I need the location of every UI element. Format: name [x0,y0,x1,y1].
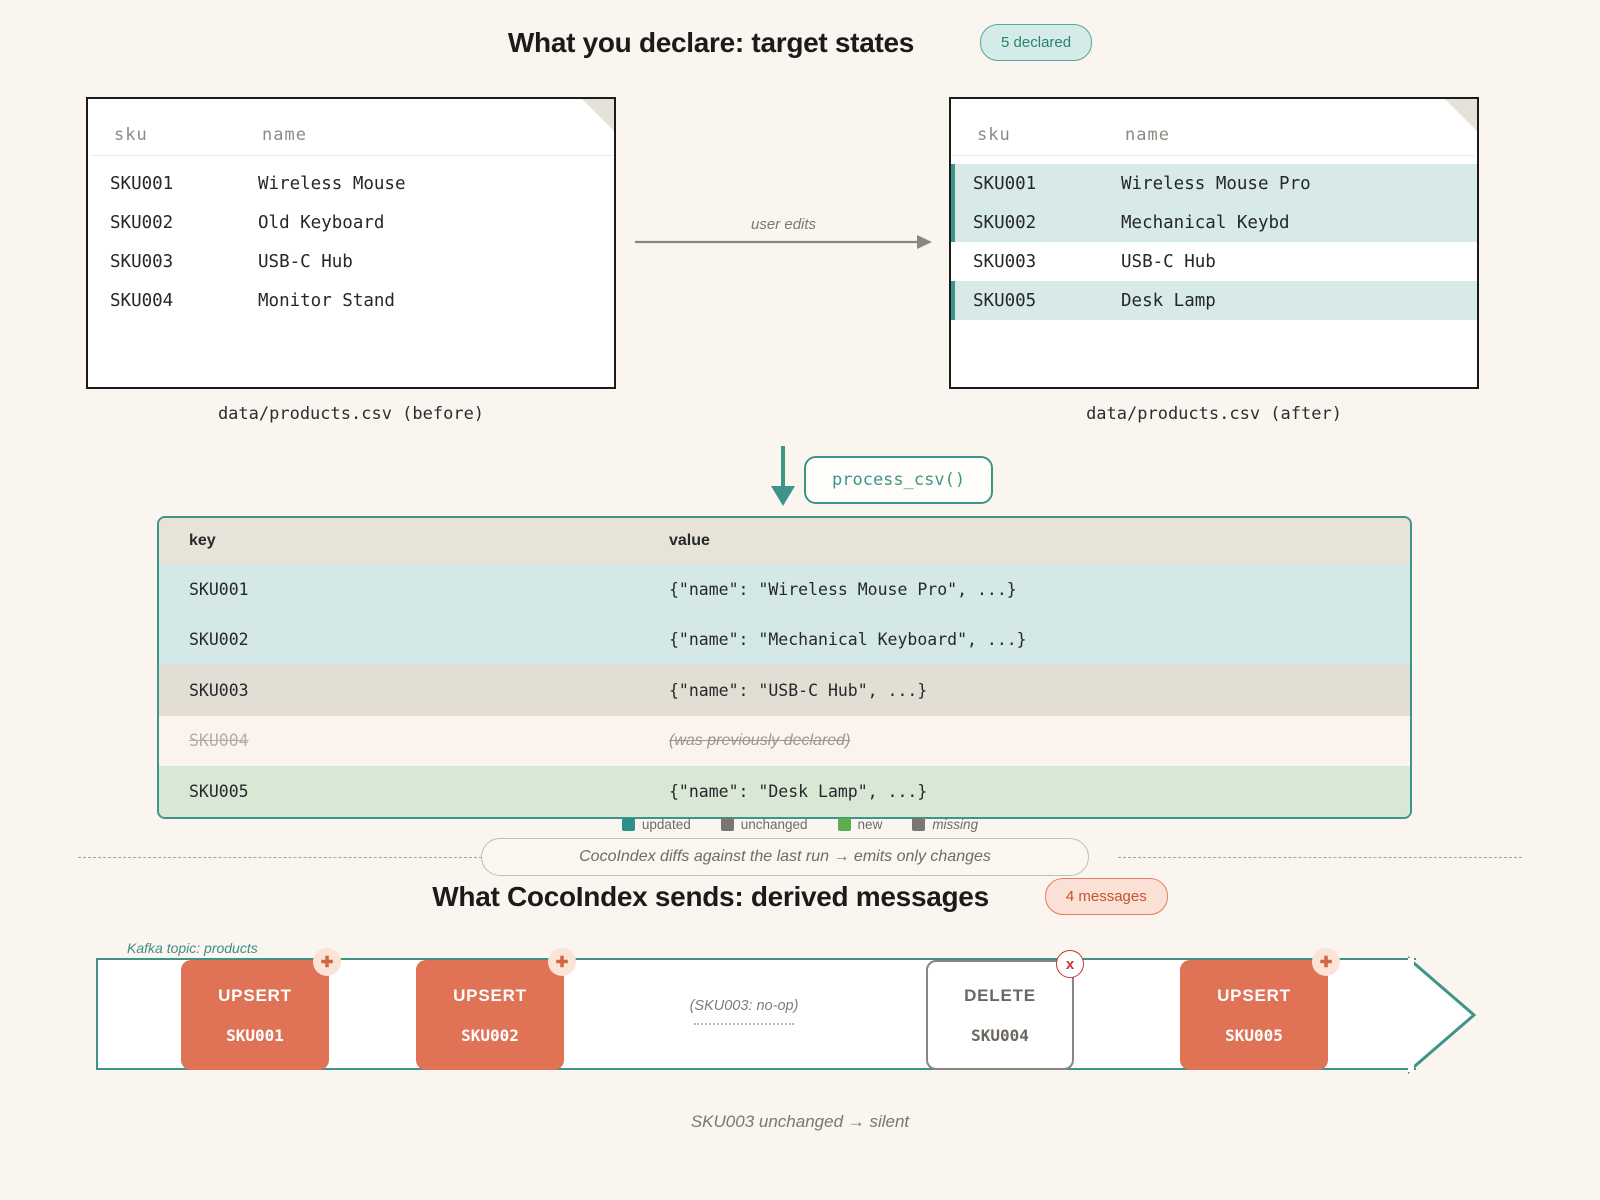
plus-icon: ✚ [313,948,341,976]
legend-label: unchanged [741,817,808,832]
page-title: What you declare: target states [508,27,914,59]
noop-dotted-line [694,1023,794,1025]
table-row: SKU003 USB-C Hub [88,242,614,281]
diff-note: CocoIndex diffs against the last run → e… [481,838,1089,876]
legend: updated unchanged new missing [0,817,1600,832]
legend-label: missing [932,817,978,832]
message-sku: SKU005 [1225,1026,1283,1045]
caption-before: data/products.csv (before) [86,404,616,424]
swatch-icon [721,818,734,831]
cell-value: {"name": "Desk Lamp", ...} [669,782,927,801]
column-header-name: name [1125,125,1170,145]
cell-name: Mechanical Keybd [1121,213,1290,233]
noop-label: (SKU003: no-op) [644,998,844,1014]
divider-line-right [1118,857,1522,858]
column-header-name: name [262,125,307,145]
csv-header-row-before: sku name [90,99,612,156]
legend-item-unchanged: unchanged [721,817,808,832]
page-fold-icon [582,99,614,131]
cell-name: Monitor Stand [258,291,395,311]
declare-section-header: What you declare: target states 5 declar… [0,24,1600,61]
noop-marker: (SKU003: no-op) [644,998,844,1025]
cell-name: Wireless Mouse Pro [1121,174,1311,194]
table-row: SKU002 Mechanical Keybd [951,203,1477,242]
kv-table-header: key value [159,518,1410,564]
swatch-icon [912,818,925,831]
column-header-key: key [189,532,669,550]
csv-rows-after: SKU001 Wireless Mouse Pro SKU002 Mechani… [951,156,1477,320]
kafka-topic-label: Kafka topic: products [127,940,258,956]
messages-count-badge: 4 messages [1045,878,1168,915]
message-op: UPSERT [1217,986,1291,1006]
process-csv-node[interactable]: process_csv() [804,456,993,504]
cell-name: Old Keyboard [258,213,384,233]
user-edits-arrow-icon [635,232,935,252]
csv-card-after: sku name SKU001 Wireless Mouse Pro SKU00… [949,97,1479,389]
cell-sku: SKU002 [973,213,1121,233]
plus-icon: ✚ [548,948,576,976]
process-arrow-icon [766,446,802,508]
footnote: SKU003 unchanged → silent [0,1112,1600,1132]
cell-key: SKU003 [189,681,669,700]
table-row: SKU004 (was previously declared) [159,716,1410,767]
legend-label: new [858,817,883,832]
message-card-upsert-sku002[interactable]: ✚ UPSERT SKU002 [416,960,564,1070]
sends-section-header: What CocoIndex sends: derived messages 4… [0,878,1600,915]
table-row: SKU001 {"name": "Wireless Mouse Pro", ..… [159,564,1410,615]
legend-label: updated [642,817,691,832]
stream-arrowhead-icon [1408,930,1478,1100]
column-header-value: value [669,532,710,550]
table-row: SKU003 {"name": "USB-C Hub", ...} [159,665,1410,716]
table-row: SKU005 Desk Lamp [951,281,1477,320]
caption-after: data/products.csv (after) [949,404,1479,424]
table-row: SKU002 {"name": "Mechanical Keyboard", .… [159,615,1410,666]
cell-name: Desk Lamp [1121,291,1216,311]
cell-name: USB-C Hub [1121,252,1216,272]
user-edits-label: user edits [751,216,816,233]
message-sku: SKU002 [461,1026,519,1045]
plus-icon: ✚ [1312,948,1340,976]
cell-value: (was previously declared) [669,732,850,750]
table-row: SKU002 Old Keyboard [88,203,614,242]
legend-item-updated: updated [622,817,691,832]
csv-card-before: sku name SKU001 Wireless Mouse SKU002 Ol… [86,97,616,389]
csv-rows-before: SKU001 Wireless Mouse SKU002 Old Keyboar… [88,156,614,320]
cell-key: SKU001 [189,580,669,599]
table-row: SKU003 USB-C Hub [951,242,1477,281]
declared-count-badge: 5 declared [980,24,1092,61]
cell-sku: SKU004 [110,291,258,311]
table-row: SKU005 {"name": "Desk Lamp", ...} [159,766,1410,817]
cell-sku: SKU002 [110,213,258,233]
column-header-sku: sku [114,125,262,145]
cell-name: Wireless Mouse [258,174,406,194]
cell-sku: SKU001 [110,174,258,194]
swatch-icon [622,818,635,831]
table-row: SKU001 Wireless Mouse Pro [951,164,1477,203]
cell-sku: SKU001 [973,174,1121,194]
legend-item-new: new [838,817,883,832]
page-fold-icon [1445,99,1477,131]
message-card-delete-sku004[interactable]: x DELETE SKU004 [926,960,1074,1070]
legend-item-missing: missing [912,817,978,832]
sends-title: What CocoIndex sends: derived messages [432,881,989,913]
cell-key: SKU004 [189,731,669,750]
table-row: SKU004 Monitor Stand [88,281,614,320]
cell-sku: SKU003 [110,252,258,272]
message-op: DELETE [964,986,1036,1006]
cell-key: SKU002 [189,630,669,649]
cell-value: {"name": "USB-C Hub", ...} [669,681,927,700]
kv-table: key value SKU001 {"name": "Wireless Mous… [157,516,1412,819]
csv-header-row-after: sku name [953,99,1475,156]
message-op: UPSERT [453,986,527,1006]
cell-key: SKU005 [189,782,669,801]
message-card-upsert-sku005[interactable]: ✚ UPSERT SKU005 [1180,960,1328,1070]
message-card-upsert-sku001[interactable]: ✚ UPSERT SKU001 [181,960,329,1070]
message-op: UPSERT [218,986,292,1006]
cell-name: USB-C Hub [258,252,353,272]
diff-divider: CocoIndex diffs against the last run → e… [0,838,1600,876]
column-header-sku: sku [977,125,1125,145]
x-icon: x [1056,950,1084,978]
swatch-icon [838,818,851,831]
cell-sku: SKU005 [973,291,1121,311]
cell-value: {"name": "Mechanical Keyboard", ...} [669,630,1027,649]
message-sku: SKU004 [971,1026,1029,1045]
cell-sku: SKU003 [973,252,1121,272]
table-row: SKU001 Wireless Mouse [88,164,614,203]
cell-value: {"name": "Wireless Mouse Pro", ...} [669,580,1017,599]
message-sku: SKU001 [226,1026,284,1045]
divider-line-left [78,857,482,858]
